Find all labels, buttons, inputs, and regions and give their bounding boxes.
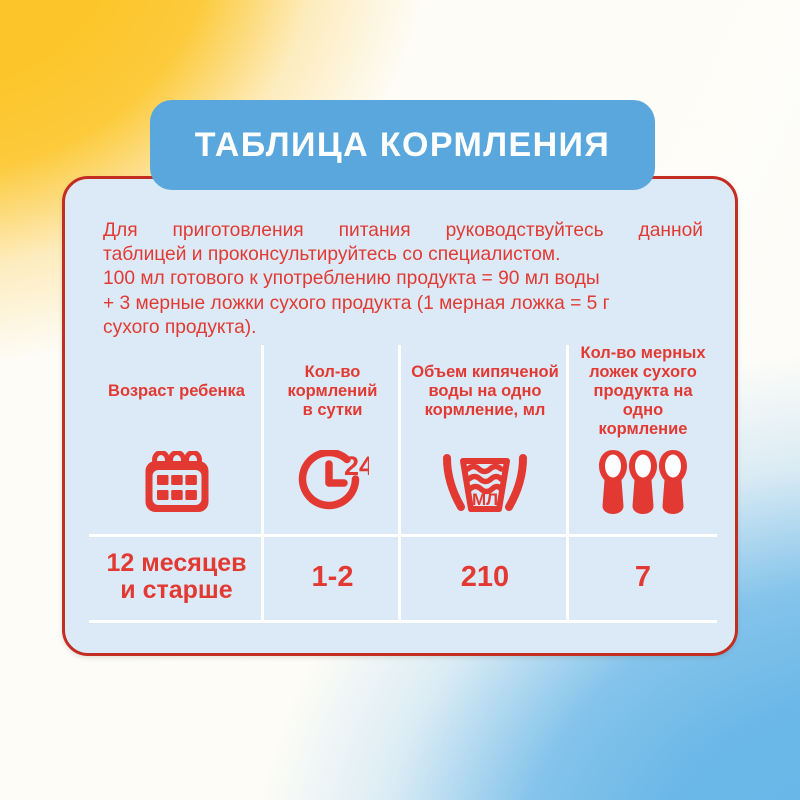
icon-cell-water: МЛ (401, 437, 569, 534)
data-cell-feedings: 1-2 (264, 534, 401, 620)
clock-24-label: 24 (344, 451, 369, 481)
title-banner: ТАБЛИЦА КОРМЛЕНИЯ (150, 100, 655, 190)
data-water-value: 210 (461, 561, 509, 593)
icon-cell-scoops (569, 437, 717, 534)
row-separator-bottom (89, 620, 717, 623)
row-separator-top (89, 534, 717, 537)
data-age-line-2: и старше (120, 576, 232, 604)
intro-line-5: сухого продукта). (103, 316, 703, 340)
calendar-icon (143, 451, 211, 520)
header-scoops-line-4: кормление (599, 420, 688, 438)
icon-cell-age (89, 437, 264, 534)
measuring-cup-water-icon: МЛ (439, 451, 531, 520)
intro-line-2: таблицей и проконсультируйтесь со специа… (103, 243, 703, 267)
header-water-line-1: Объем кипяченой (411, 363, 559, 381)
header-scoops-line-2: ложек сухого (589, 363, 697, 381)
intro-line-4: + 3 мерные ложки сухого продукта (1 мерн… (103, 292, 703, 316)
feeding-table-card: Для приготовления питания руководствуйте… (62, 176, 738, 656)
header-scoops-line-3: продукта на одно (594, 382, 693, 419)
header-cell-water: Объем кипяченой воды на одно кормление, … (401, 345, 569, 437)
intro-paragraph: Для приготовления питания руководствуйте… (103, 219, 703, 340)
header-scoops-line-1: Кол-во мерных (581, 344, 706, 362)
data-cell-age: 12 месяцев и старше (89, 534, 264, 620)
header-cell-scoops: Кол-во мерных ложек сухого продукта на о… (569, 345, 717, 437)
intro-line-3: 100 мл готового к употреблению продукта … (103, 267, 703, 291)
icon-cell-feedings: 24 (264, 437, 401, 534)
header-feedings-line-2: кормлений (288, 382, 378, 400)
measuring-cup-unit-label: МЛ (472, 490, 498, 509)
header-water-line-3: кормление, мл (425, 401, 546, 419)
table-header-row: Возраст ребенка Кол-во кормлений в сутки (89, 345, 717, 437)
table-icon-row: 24 (89, 437, 717, 534)
page-title: ТАБЛИЦА КОРМЛЕНИЯ (195, 126, 610, 165)
data-age-line-1: 12 месяцев (107, 549, 247, 577)
data-feedings-value: 1-2 (312, 561, 354, 593)
feeding-table: Возраст ребенка Кол-во кормлений в сутки (89, 345, 717, 620)
table-row: 12 месяцев и старше 1-2 (89, 534, 717, 620)
data-scoops-value: 7 (635, 561, 651, 593)
data-cell-scoops: 7 (569, 534, 717, 620)
header-cell-feedings: Кол-во кормлений в сутки (264, 345, 401, 437)
header-age-label: Возраст ребенка (108, 382, 245, 400)
intro-line-1: Для приготовления питания руководствуйте… (103, 219, 703, 243)
measuring-spoons-icon (597, 448, 689, 523)
header-cell-age: Возраст ребенка (89, 345, 264, 437)
poster-background: Для приготовления питания руководствуйте… (0, 0, 800, 800)
header-feedings-line-1: Кол-во (305, 363, 361, 381)
clock-24-icon: 24 (297, 450, 369, 521)
data-cell-water: 210 (401, 534, 569, 620)
header-water-line-2: воды на одно (428, 382, 541, 400)
header-feedings-line-3: в сутки (303, 401, 363, 419)
